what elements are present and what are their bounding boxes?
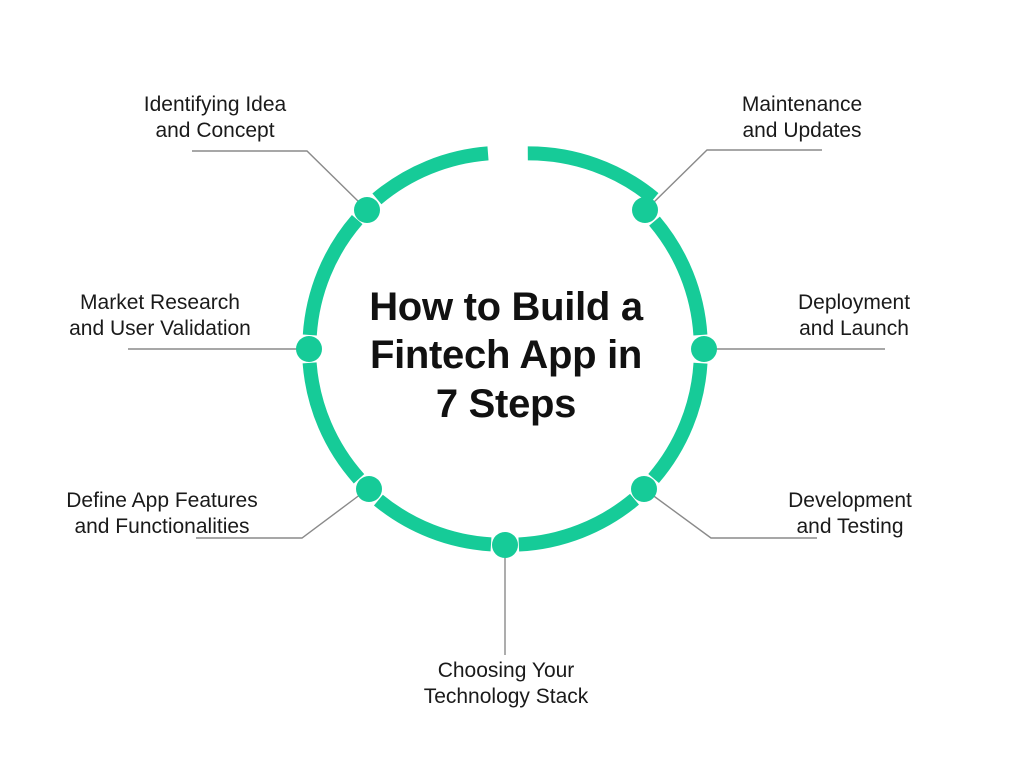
step-label-market-research-and-user-validation: Market Research and User Validation [22,290,298,343]
step-label-development-and-testing: Development and Testing [700,488,1000,541]
step-label-choosing-your-technology-stack: Choosing Your Technology Stack [356,658,656,711]
center-title-line-1: How to Build a [340,283,672,331]
center-title-line-3: 7 Steps [340,380,672,428]
ring-segment-7 [528,153,654,198]
step-dot-4[interactable] [492,532,518,558]
step-label-maintenance-and-updates: Maintenance and Updates [632,92,972,145]
connector-line-step-1 [192,151,361,204]
step-dot-3[interactable] [356,476,382,502]
step-dot-2[interactable] [296,336,322,362]
step-dot-1[interactable] [354,197,380,223]
step-label-identifying-idea-and-concept: Identifying Idea and Concept [35,92,395,145]
step-label-define-app-features-and-functionalities: Define App Features and Functionalities [12,488,312,541]
connector-line-step-7 [652,150,822,204]
ring-segment-0 [377,153,488,199]
ring-segment-3 [378,500,491,544]
step-dot-7[interactable] [632,197,658,223]
step-dot-5[interactable] [631,476,657,502]
step-dot-6[interactable] [691,336,717,362]
center-title-line-2: Fintech App in [340,331,672,379]
ring-segment-4 [519,499,635,544]
step-label-deployment-and-launch: Deployment and Launch [716,290,992,343]
center-title: How to Build a Fintech App in 7 Steps [340,283,672,428]
infographic-canvas: How to Build a Fintech App in 7 Steps Id… [0,0,1024,757]
